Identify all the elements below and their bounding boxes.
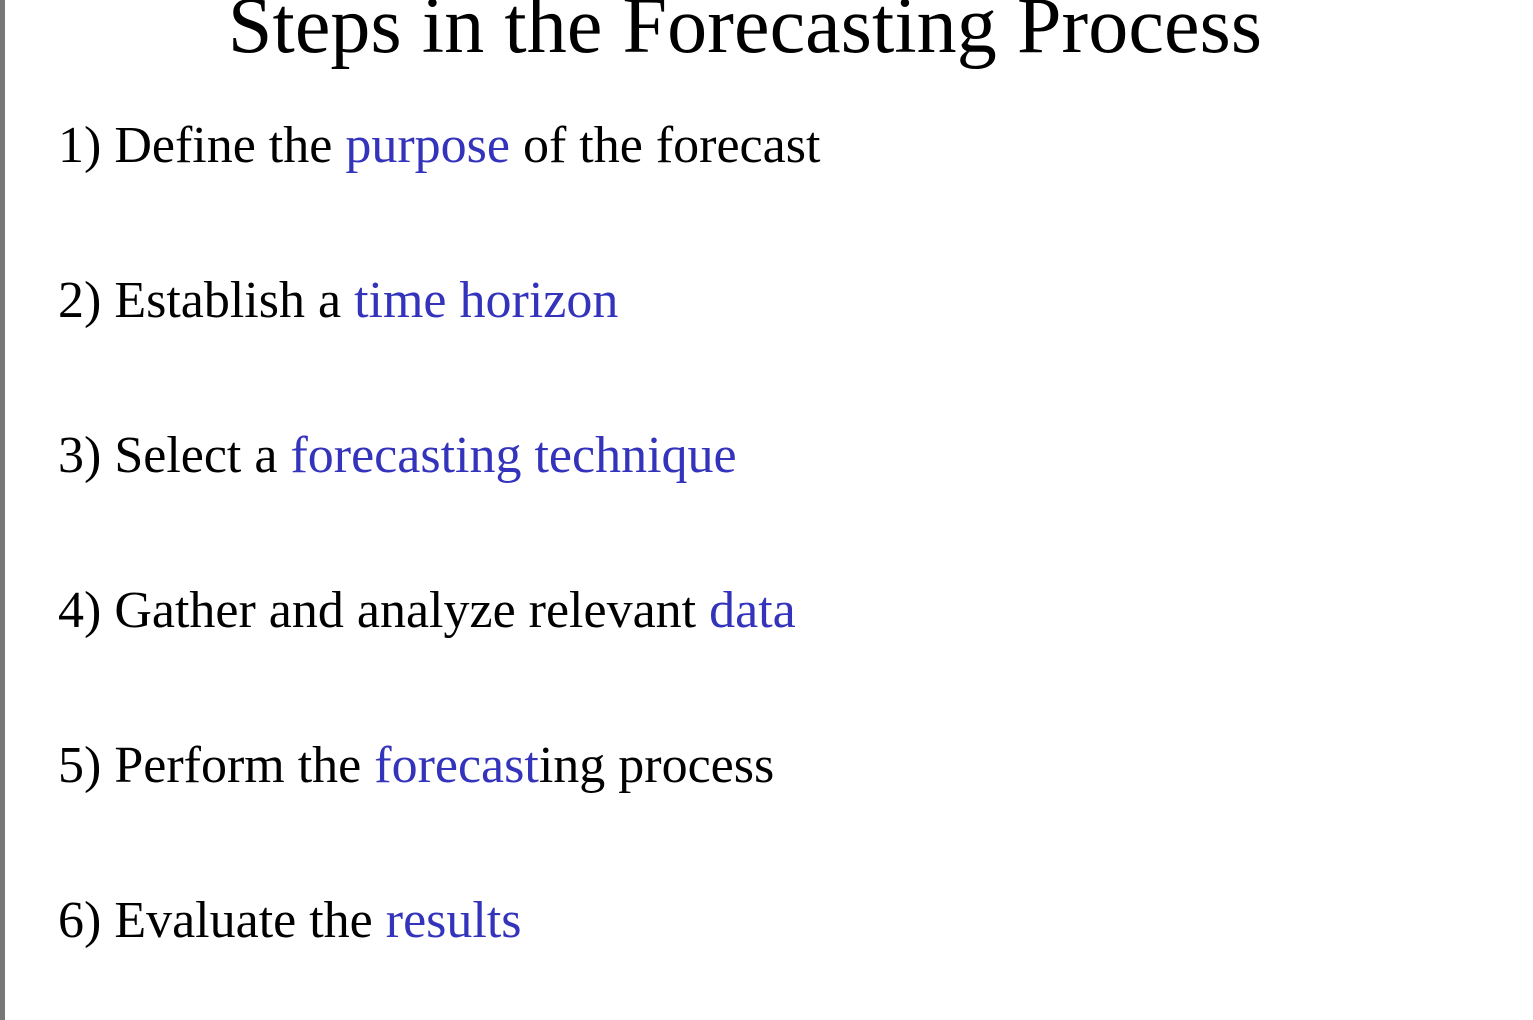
step-keyword: time horizon — [354, 272, 618, 329]
step-text-before: Perform the — [114, 737, 374, 794]
step-text-after: ing process — [539, 737, 774, 794]
step-text-after: of the forecast — [510, 117, 820, 174]
step-number: 5) — [58, 737, 101, 794]
presentation-slide: Steps in the Forecasting Process 1) Defi… — [0, 0, 1533, 1020]
page-title: Steps in the Forecasting Process — [0, 0, 1490, 66]
forecasting-steps-list: 1) Define the purpose of the forecast 2)… — [58, 118, 1478, 1020]
list-item: 3) Select a forecasting technique — [58, 428, 1478, 583]
list-item: 5) Perform the forecasting process — [58, 738, 1478, 893]
slide-left-edge-bar — [0, 0, 5, 1020]
step-number: 6) — [58, 892, 101, 949]
step-text-before: Gather and analyze relevant — [114, 582, 709, 639]
list-item: 4) Gather and analyze relevant data — [58, 583, 1478, 738]
step-number: 2) — [58, 272, 101, 329]
step-number: 1) — [58, 117, 101, 174]
step-text-before: Establish a — [114, 272, 354, 329]
step-number: 4) — [58, 582, 101, 639]
list-item: 2) Establish a time horizon — [58, 273, 1478, 428]
step-text-before: Define the — [114, 117, 345, 174]
step-keyword: data — [709, 582, 796, 639]
list-item: 1) Define the purpose of the forecast — [58, 118, 1478, 273]
step-keyword: results — [386, 892, 522, 949]
step-keyword: purpose — [345, 117, 510, 174]
step-number: 3) — [58, 427, 101, 484]
step-text-before: Evaluate the — [114, 892, 385, 949]
step-keyword: forecast — [374, 737, 539, 794]
step-text-before: Select a — [114, 427, 290, 484]
list-item: 6) Evaluate the results — [58, 893, 1478, 1020]
step-keyword: forecasting technique — [290, 427, 736, 484]
